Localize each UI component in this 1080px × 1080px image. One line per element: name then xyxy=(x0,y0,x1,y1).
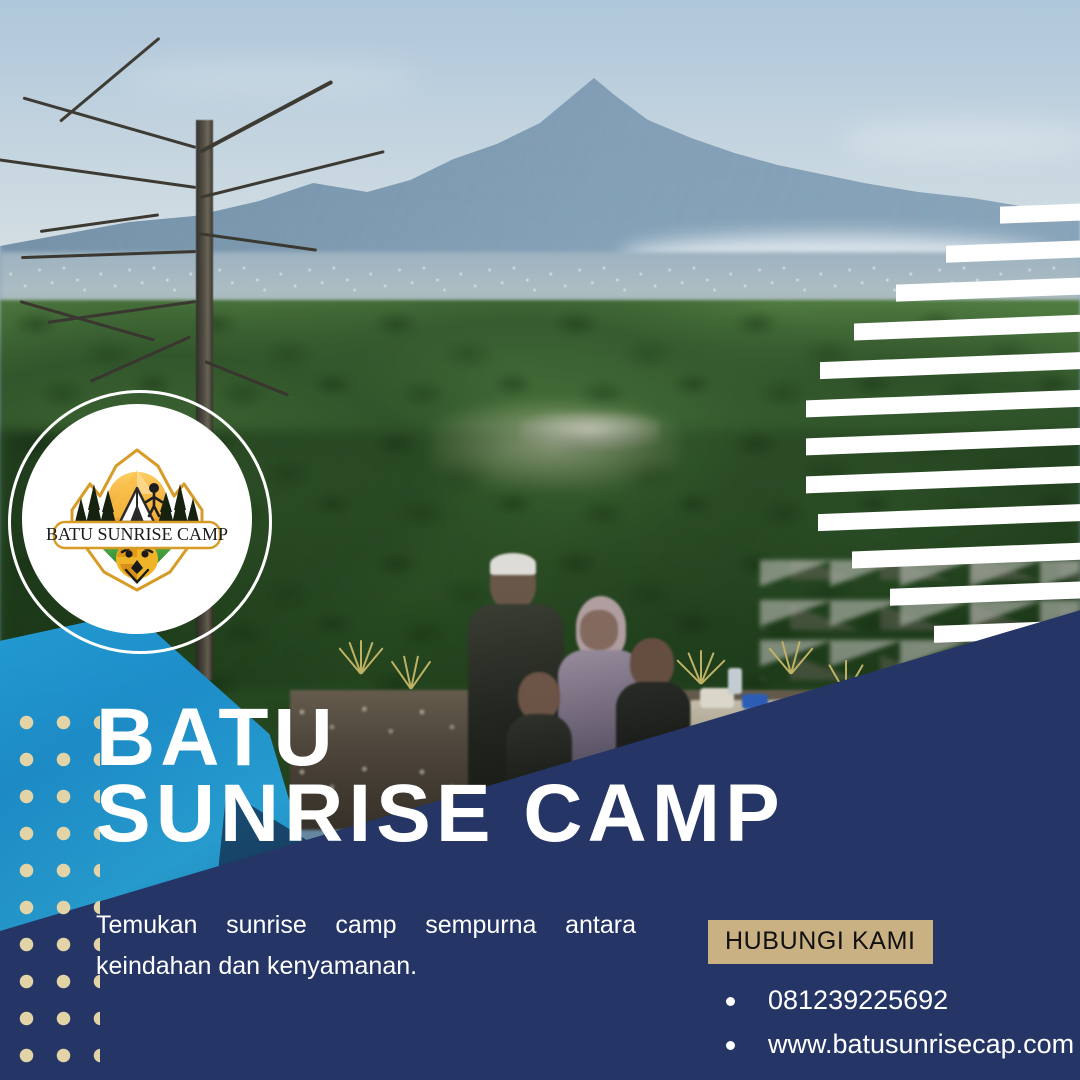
logo-emblem: BATU SUNRISE CAMP xyxy=(42,444,232,594)
contact-phone[interactable]: 081239225692 xyxy=(726,978,1068,1022)
logo-badge-text: BATU SUNRISE CAMP xyxy=(46,524,228,544)
table-bottle xyxy=(728,668,742,694)
page-title: BATU SUNRISE CAMP xyxy=(96,700,956,852)
headline-line-2: SUNRISE CAMP xyxy=(96,776,956,852)
poster-canvas: BATU SUNRISE CAMP BATU SUNRISE CAMP Temu… xyxy=(0,0,1080,1080)
cloud-wisp xyxy=(120,60,420,96)
tagline-text: Temukan sunrise camp sempurna antara kei… xyxy=(96,905,636,987)
logo-badge[interactable]: BATU SUNRISE CAMP xyxy=(22,404,252,634)
contact-website[interactable]: www.batusunrisecap.com xyxy=(726,1022,1068,1066)
contact-block: HUBUNGI KAMI 081239225692 www.batusunris… xyxy=(708,920,1068,1066)
contact-badge: HUBUNGI KAMI xyxy=(708,920,933,964)
contact-list: 081239225692 www.batusunrisecap.com xyxy=(708,978,1068,1066)
